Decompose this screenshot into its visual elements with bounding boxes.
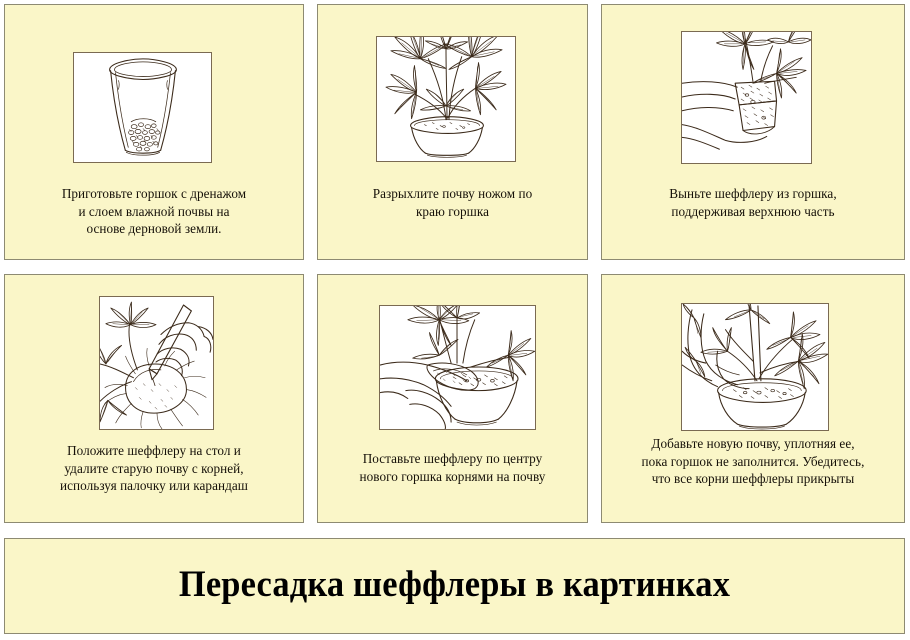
- step-panel-4: Положите шеффлеру на стол и удалите стар…: [4, 274, 304, 523]
- step-panel-3: Выньте шеффлеру из горшка, поддерживая в…: [601, 4, 905, 260]
- step-panel-5: Поставьте шеффлеру по центру нового горш…: [317, 274, 588, 523]
- step-caption-1: Приготовьте горшок с дренажом и слоем вл…: [11, 185, 297, 238]
- step-panel-2: Разрыхлите почву ножом по краю горшка: [317, 4, 588, 260]
- title-panel: Пересадка шеффлеры в картинках: [4, 538, 905, 634]
- step-panel-6: Добавьте новую почву, уплотняя ее, пока …: [601, 274, 905, 523]
- schefflera-in-pot-illustration: [376, 36, 516, 162]
- hand-with-pencil-loosening-root-ball-illustration: [99, 296, 214, 430]
- step-caption-6: Добавьте новую почву, уплотняя ее, пока …: [608, 435, 898, 488]
- step-caption-4: Положите шеффлеру на стол и удалите стар…: [11, 442, 297, 495]
- page-title: Пересадка шеффлеры в картинках: [36, 563, 872, 607]
- infographic-page: Приготовьте горшок с дренажом и слоем вл…: [0, 0, 910, 640]
- plant-pot-with-drainage-layer-illustration: [73, 52, 212, 163]
- step-panel-1: Приготовьте горшок с дренажом и слоем вл…: [4, 4, 304, 260]
- hand-removing-schefflera-from-pot-illustration: [681, 31, 812, 164]
- step-caption-3: Выньте шеффлеру из горшка, поддерживая в…: [608, 185, 898, 220]
- step-caption-2: Разрыхлите почву ножом по краю горшка: [324, 185, 581, 220]
- step-caption-5: Поставьте шеффлеру по центру нового горш…: [324, 450, 581, 485]
- hand-placing-schefflera-into-new-pot-illustration: [379, 305, 536, 430]
- hand-adding-and-firming-new-soil-illustration: [681, 303, 829, 431]
